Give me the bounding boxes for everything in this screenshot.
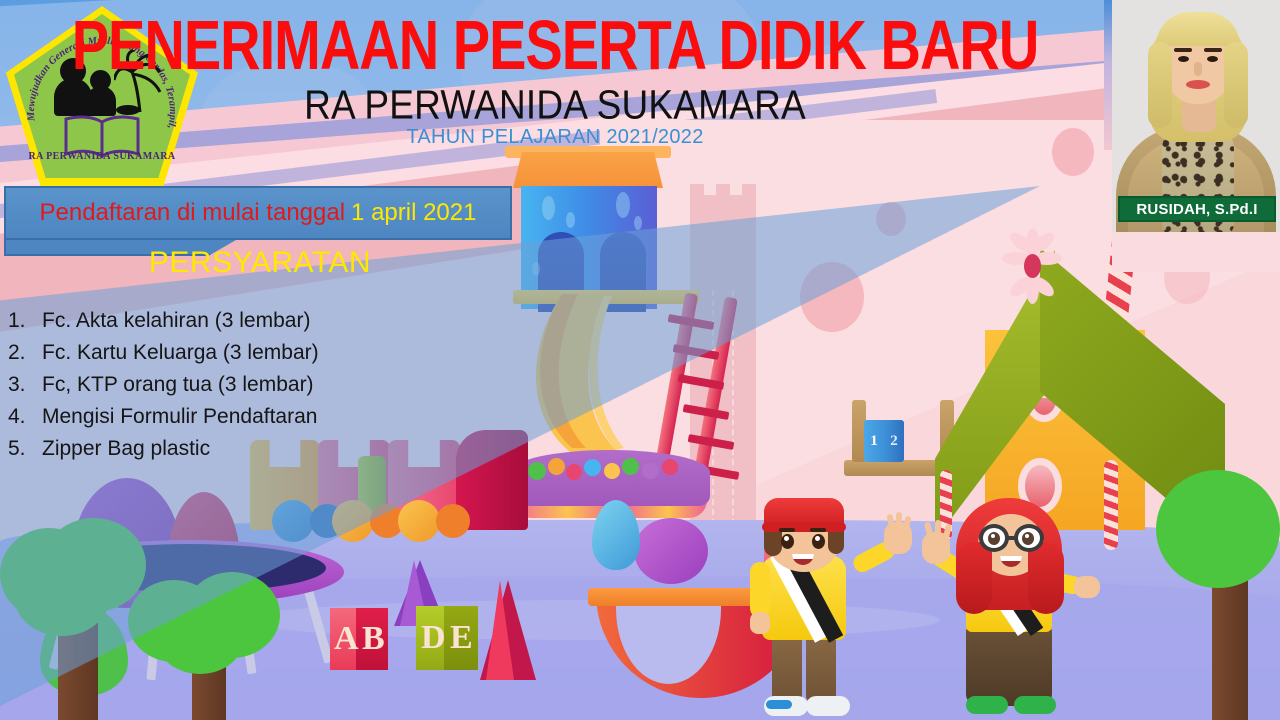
child-boy-figure: [748, 500, 908, 720]
tree-canopy: [14, 556, 110, 636]
teacher-hijab-side: [1224, 42, 1248, 128]
list-item-number: 3.: [8, 369, 42, 401]
number-block: 1 2: [864, 420, 904, 462]
alphabet-block-de: D E: [416, 606, 478, 670]
pit-ball: [584, 459, 601, 476]
registration-text: Pendaftaran di mulai tanggal1 april 2021: [40, 199, 477, 227]
teacher-nameplate: RUSIDAH, S.Pd.I: [1118, 196, 1276, 222]
school-name-title: RA PERWANIDA SUKAMARA: [0, 82, 1110, 128]
list-item: 1. Fc. Akta kelahiran (3 lembar): [8, 305, 468, 337]
pit-ball: [662, 459, 678, 475]
tower-droplet: [532, 262, 540, 276]
tower-droplet: [616, 192, 630, 218]
pit-ball: [566, 464, 582, 480]
alphabet-block-ab: A B: [330, 608, 388, 670]
pit-ball: [642, 462, 659, 479]
train-wheel: [436, 504, 470, 538]
list-item-label: Fc. Akta kelahiran (3 lembar): [42, 305, 310, 337]
wall-bubble: [800, 262, 864, 332]
list-item-number: 2.: [8, 337, 42, 369]
tree-canopy: [156, 602, 244, 674]
tower-droplet: [634, 216, 642, 230]
red-cone-highlight: [486, 580, 514, 680]
tower-droplet: [566, 212, 575, 228]
castle-merlon: [742, 184, 756, 200]
castle-merlon: [690, 184, 704, 200]
pit-ball: [604, 463, 620, 479]
requirements-heading: PERSYARATAN: [0, 246, 520, 280]
photo-bottom-strip: [1112, 232, 1280, 272]
list-item-number: 5.: [8, 433, 42, 465]
list-item: 3. Fc, KTP orang tua (3 lembar): [8, 369, 468, 401]
pit-ball: [548, 458, 565, 475]
academic-year-label: TAHUN PELAJARAN 2021/2022: [0, 126, 1110, 149]
list-item-number: 1.: [8, 305, 42, 337]
wall-bubble: [876, 202, 906, 236]
teacher-eyebrow: [1174, 48, 1192, 52]
block-letter-d: D: [421, 619, 446, 657]
child-girl-figure: [922, 496, 1122, 720]
list-item: 2. Fc. Kartu Keluarga (3 lembar): [8, 337, 468, 369]
teacher-lips: [1186, 80, 1210, 89]
teacher-eyebrow: [1204, 48, 1222, 52]
tree-canopy: [1156, 470, 1280, 588]
train-wheel: [272, 500, 314, 542]
tower-droplet: [542, 196, 555, 220]
registration-prefix-label: Pendaftaran di mulai tanggal: [40, 199, 346, 226]
teacher-hijab-side: [1148, 42, 1172, 128]
house-flower-icon: [1000, 228, 1064, 304]
page-title: PENERIMAAN PESERTA DIDIK BARU: [0, 10, 1110, 80]
poster-canvas: 1 2 A B D: [0, 0, 1280, 720]
list-item-label: Mengisi Formulir Pendaftaran: [42, 401, 317, 433]
logo-school-name: RA PERWANIDA SUKAMARA: [6, 151, 198, 162]
number-block-digit-left: 1: [864, 420, 884, 462]
train-wheel: [332, 500, 374, 542]
teacher-name-label: RUSIDAH, S.Pd.I: [1136, 201, 1257, 218]
teacher-eye: [1178, 56, 1189, 62]
purple-toy-ball: [634, 518, 708, 584]
block-letter-b: B: [362, 620, 385, 658]
list-item: 4. Mengisi Formulir Pendaftaran: [8, 401, 468, 433]
pit-ball: [528, 462, 546, 480]
registration-date-label: 1 april 2021: [351, 199, 476, 226]
list-item-label: Fc, KTP orang tua (3 lembar): [42, 369, 314, 401]
teacher-eye: [1207, 56, 1218, 62]
number-block-digit-right: 2: [884, 420, 904, 462]
teacher-nose: [1194, 62, 1202, 76]
requirements-list: 1. Fc. Akta kelahiran (3 lembar) 2. Fc. …: [8, 305, 468, 465]
registration-banner: Pendaftaran di mulai tanggal1 april 2021: [4, 186, 512, 240]
block-letter-e: E: [450, 619, 473, 657]
block-letter-a: A: [334, 620, 359, 658]
list-item-label: Zipper Bag plastic: [42, 433, 210, 465]
train-wheel: [398, 500, 440, 542]
list-item: 5. Zipper Bag plastic: [8, 433, 468, 465]
list-item-label: Fc. Kartu Keluarga (3 lembar): [42, 337, 319, 369]
castle-merlon: [716, 184, 730, 200]
pit-ball: [622, 458, 639, 475]
tower-roof: [513, 152, 663, 188]
list-item-number: 4.: [8, 401, 42, 433]
